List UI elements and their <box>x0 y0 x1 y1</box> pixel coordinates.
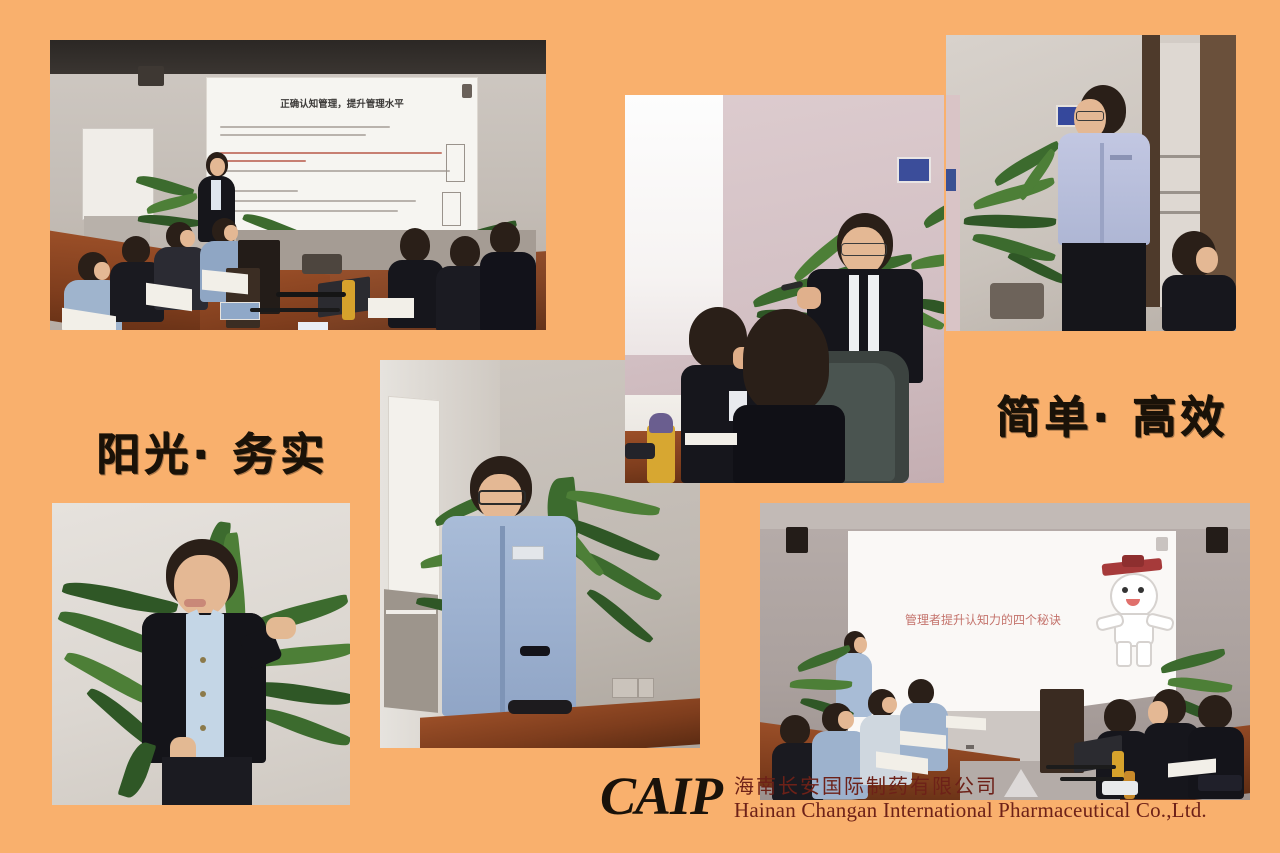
poster-canvas: 正确认知管理，提升管理水平 <box>0 0 1280 853</box>
presenter-blue-shirt <box>436 456 586 716</box>
company-name-en: Hainan Changan International Pharmaceuti… <box>734 798 1207 822</box>
slogan-left: 阳光· 务实 <box>96 418 328 482</box>
photo-young-man-standing <box>946 35 1236 331</box>
photo-woman-glasses-standing <box>625 95 944 483</box>
caip-logo: CAIP <box>600 772 722 822</box>
photo-training-room-wide: 正确认知管理，提升管理水平 <box>50 40 546 330</box>
slogan-right: 简单· 高效 <box>996 381 1228 445</box>
brand-names: 海南长安国际制药有限公司 Hainan Changan Internationa… <box>734 775 1207 822</box>
standing-young-man <box>1058 85 1150 331</box>
photo-meeting-projection: 管理者提升认知力的四个秘诀 <box>760 503 1250 800</box>
photo-young-woman-gesturing <box>52 503 350 805</box>
slide-title: 正确认知管理，提升管理水平 <box>207 96 477 110</box>
brand-footer: CAIP 海南长安国际制药有限公司 Hainan Changan Interna… <box>600 772 1207 822</box>
young-woman-subject <box>140 539 270 805</box>
slide-side-label-1 <box>446 144 465 182</box>
slide-mascot-icon <box>1100 553 1166 663</box>
slide-side-label-2 <box>442 192 461 226</box>
slide-title: 管理者提升认知力的四个秘诀 <box>848 611 1118 628</box>
company-name-cn: 海南长安国际制药有限公司 <box>734 775 1207 798</box>
